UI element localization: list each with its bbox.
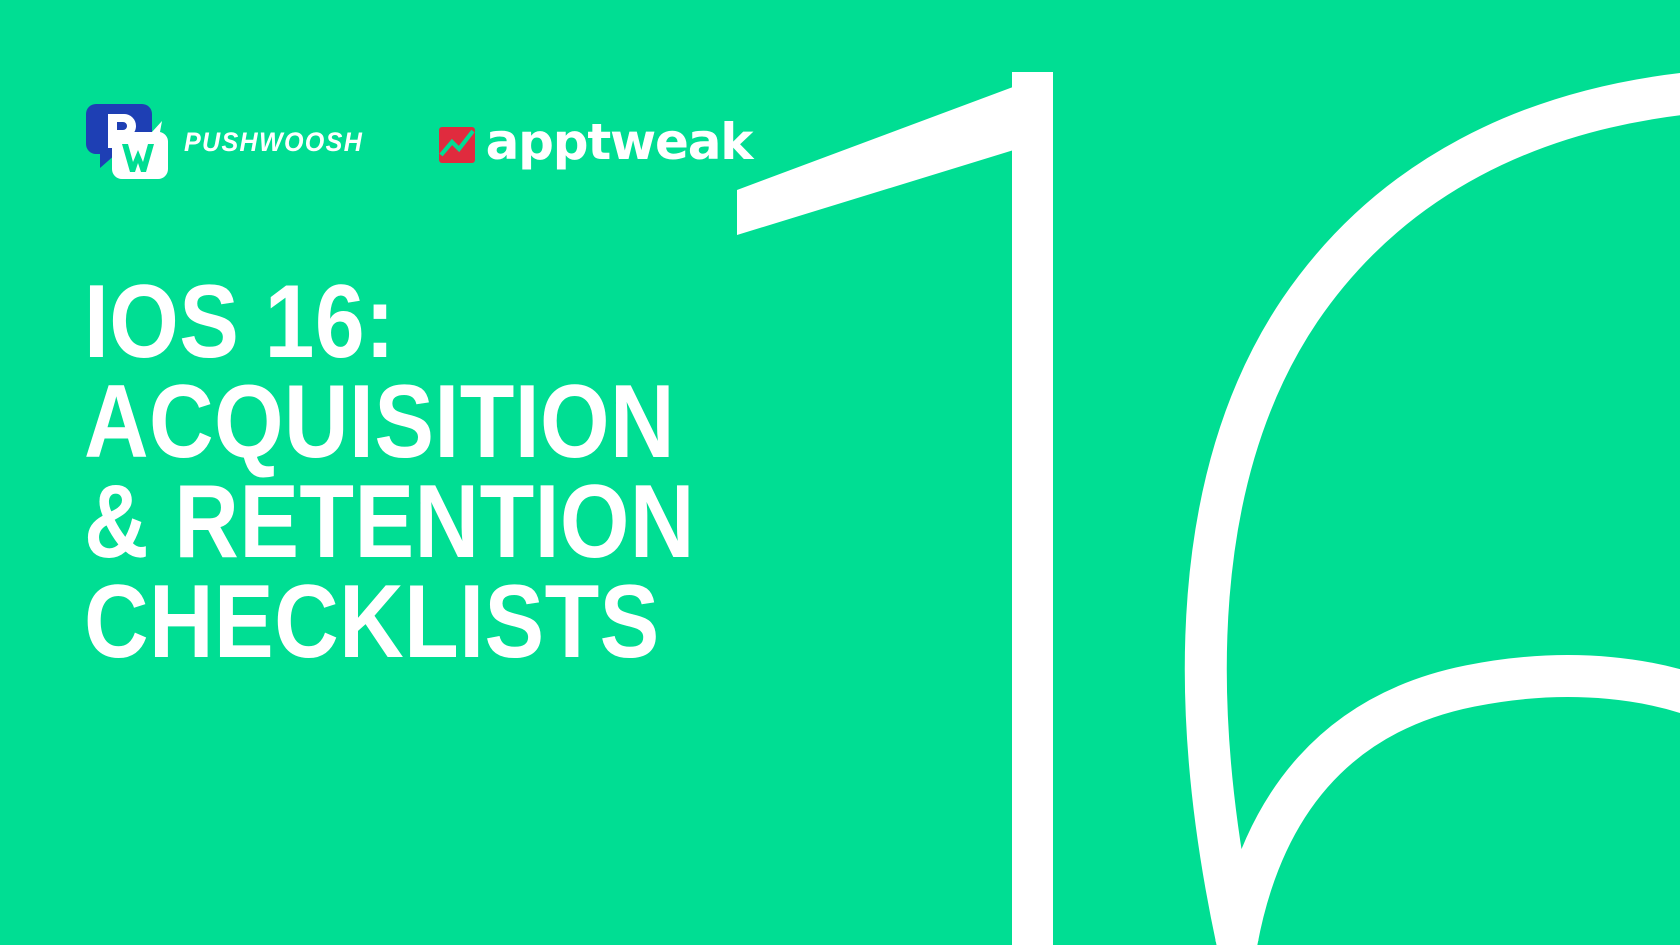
digit-one-flag <box>737 72 1053 235</box>
digit-six-bowl <box>1236 676 1680 945</box>
pushwoosh-speech-bubble-logo-icon <box>84 98 168 186</box>
banner-canvas: PUSHWOOSH apptweak IOS 16: ACQUISITION &… <box>0 0 1680 945</box>
headline-line-2: ACQUISITION <box>84 372 738 472</box>
logo-row: PUSHWOOSH apptweak <box>84 96 752 188</box>
digit-six-shape <box>1206 92 1680 945</box>
apptweak-chart-square-logo-icon <box>439 127 475 163</box>
pushwoosh-wordmark: PUSHWOOSH <box>184 129 363 156</box>
apptweak-wordmark: apptweak <box>486 117 753 167</box>
headline-block: IOS 16: ACQUISITION & RETENTION CHECKLIS… <box>84 272 844 672</box>
digit-six-spine <box>1206 92 1680 945</box>
headline-line-4: CHECKLISTS <box>84 572 738 672</box>
apptweak-logo[interactable]: apptweak <box>439 117 753 167</box>
pushwoosh-logo[interactable]: PUSHWOOSH <box>84 98 377 186</box>
digit-one-stem <box>1012 72 1053 945</box>
headline-line-1: IOS 16: <box>84 272 738 372</box>
headline-line-3: & RETENTION <box>84 472 738 572</box>
